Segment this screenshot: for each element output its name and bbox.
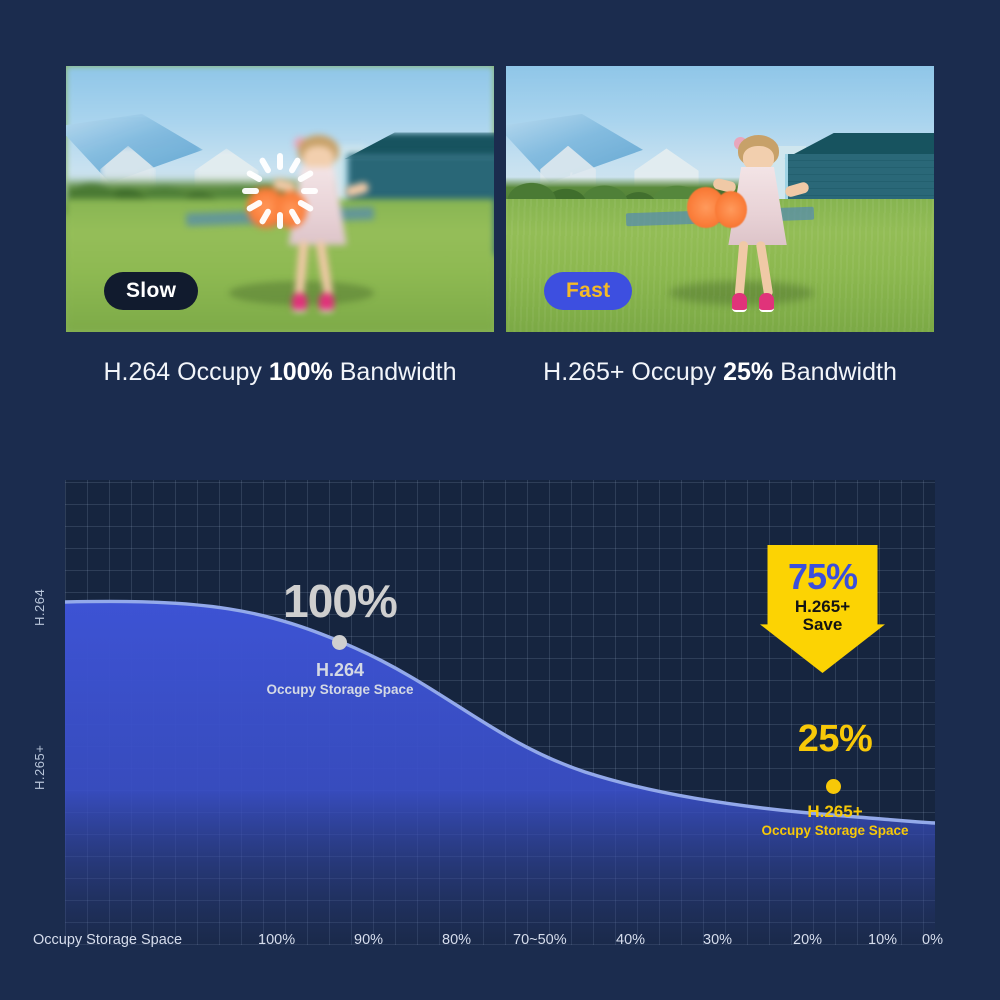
storage-chart: H.264 H.265+ 100% H.264 Occupy Storage S… [0,440,1000,960]
annotation-h265-title: H.265+ [743,802,927,822]
girl-right-shoe [319,293,334,312]
x-axis-row-label: Occupy Storage Space [33,932,182,948]
annotation-h264-label: H.264 Occupy Storage Space [248,660,432,697]
caption-h265-value: 25% [723,358,773,386]
annotation-h265-value: 25% [743,718,927,761]
caption-h264: H.264 Occupy 100% Bandwidth [66,358,494,387]
annotation-h265-subtitle: Occupy Storage Space [743,823,927,838]
comparison-panel-h264: Slow [66,66,494,332]
save-percent: 75% [760,556,885,598]
annotation-h265-label: H.265+ Occupy Storage Space [743,802,927,838]
girl-left-leg [294,241,308,297]
annotation-h264-title: H.264 [248,660,432,681]
annotation-h264-value: 100% [248,574,432,628]
x-tick-10: 10% [868,932,897,948]
annotation-h264-subtitle: Occupy Storage Space [248,682,432,697]
x-tick-30: 30% [703,932,732,948]
caption-h265-prefix: H.265+ Occupy [543,358,723,386]
badge-slow: Slow [104,272,198,310]
x-tick-0: 0% [922,932,943,948]
x-tick-70-50: 70~50% [513,932,567,948]
caption-h265: H.265+ Occupy 25% Bandwidth [506,358,934,387]
marker-dot-h265 [826,779,841,794]
girl-right-leg [316,241,334,298]
chart-plot-area: 100% H.264 Occupy Storage Space 25% H.26… [65,480,935,945]
girl-figure [711,135,805,321]
girl-left-leg [734,241,748,297]
caption-h265-suffix: Bandwidth [773,358,897,386]
save-subtitle: H.265+ Save [760,598,885,635]
girl-left-shoe [732,293,747,312]
x-axis: Occupy Storage Space 100% 90% 80% 70~50%… [0,932,1000,958]
save-line-2: Save [760,616,885,634]
caption-h264-value: 100% [269,358,333,386]
caption-h264-prefix: H.264 Occupy [103,358,268,386]
girl-left-shoe [292,293,307,312]
comparison-panel-h265: Fast [506,66,934,332]
girl-right-shoe [759,293,774,312]
x-tick-40: 40% [616,932,645,948]
y-axis-label-h264: H.264 [32,589,47,626]
x-tick-80: 80% [442,932,471,948]
x-tick-90: 90% [354,932,383,948]
y-axis-label-h265: H.265+ [32,745,47,790]
badge-fast: Fast [544,272,632,310]
save-line-1: H.265+ [760,598,885,616]
comparison-row: Slow [0,0,1000,410]
save-arrow-badge: 75% H.265+ Save [760,545,885,673]
x-tick-100: 100% [258,932,295,948]
marker-dot-h264 [332,635,347,650]
caption-h264-suffix: Bandwidth [333,358,457,386]
x-tick-20: 20% [793,932,822,948]
girl-right-leg [756,241,774,298]
loading-spinner-icon [242,153,318,229]
